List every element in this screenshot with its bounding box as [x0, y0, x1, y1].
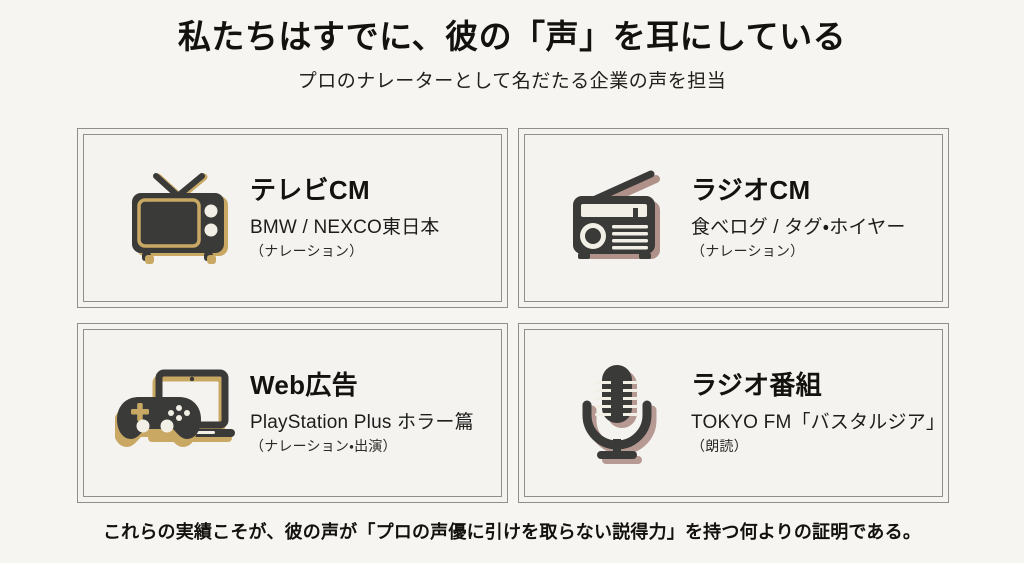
credit-card-radio-cm[interactable]: ラジオCM 食べログ / タグ・ホイヤー （ナレーション）: [518, 128, 949, 308]
credit-card-role: （ナレーション・出演）: [250, 438, 501, 455]
credit-card-role: （ナレーション）: [691, 243, 942, 260]
credits-card-grid: テレビCM BMW / NEXCO東日本 （ナレーション）: [77, 128, 949, 503]
credit-card-radio-program[interactable]: ラジオ番組 TOKYO FM「バスタルジア」 （朗読）: [518, 323, 949, 503]
credit-card-text: テレビCM BMW / NEXCO東日本 （ナレーション）: [244, 176, 501, 260]
credit-card-television[interactable]: テレビCM BMW / NEXCO東日本 （ナレーション）: [77, 128, 508, 308]
credit-card-role: （ナレーション）: [250, 243, 501, 260]
page-subtitle: プロのナレーターとして名だたる企業の声を担当: [0, 66, 1024, 93]
credit-card-client: TOKYO FM「バスタルジア」: [691, 411, 942, 435]
credit-card-client: 食べログ / タグ・ホイヤー: [691, 216, 942, 240]
page-title: 私たちはすでに、彼の「声」を耳にしている: [0, 16, 1024, 57]
television-icon: [112, 168, 244, 268]
slide-header: 私たちはすでに、彼の「声」を耳にしている プロのナレーターとして名だたる企業の声…: [0, 0, 1024, 93]
credit-card-client: PlayStation Plus ホラー篇: [250, 411, 501, 435]
credit-card-title: Web広告: [250, 371, 501, 401]
microphone-icon: [553, 361, 685, 465]
footer-note: これらの実績こそが、彼の声が「プロの声優に引けを取らない説得力」を持つ何よりの証…: [0, 518, 1024, 544]
credit-card-title: ラジオCM: [691, 176, 942, 206]
credit-card-text: Web広告 PlayStation Plus ホラー篇 （ナレーション・出演）: [244, 371, 501, 455]
credit-card-client: BMW / NEXCO東日本: [250, 216, 501, 240]
credit-card-web-ad[interactable]: Web広告 PlayStation Plus ホラー篇 （ナレーション・出演）: [77, 323, 508, 503]
credit-card-role: （朗読）: [691, 438, 942, 455]
credit-card-title: テレビCM: [250, 176, 501, 206]
gamepad-laptop-icon: [112, 363, 244, 463]
radio-icon: [553, 168, 685, 268]
slide-footer: これらの実績こそが、彼の声が「プロの声優に引けを取らない説得力」を持つ何よりの証…: [0, 518, 1024, 544]
credit-card-text: ラジオCM 食べログ / タグ・ホイヤー （ナレーション）: [685, 176, 942, 260]
credit-card-title: ラジオ番組: [691, 371, 942, 401]
credit-card-text: ラジオ番組 TOKYO FM「バスタルジア」 （朗読）: [685, 371, 942, 455]
